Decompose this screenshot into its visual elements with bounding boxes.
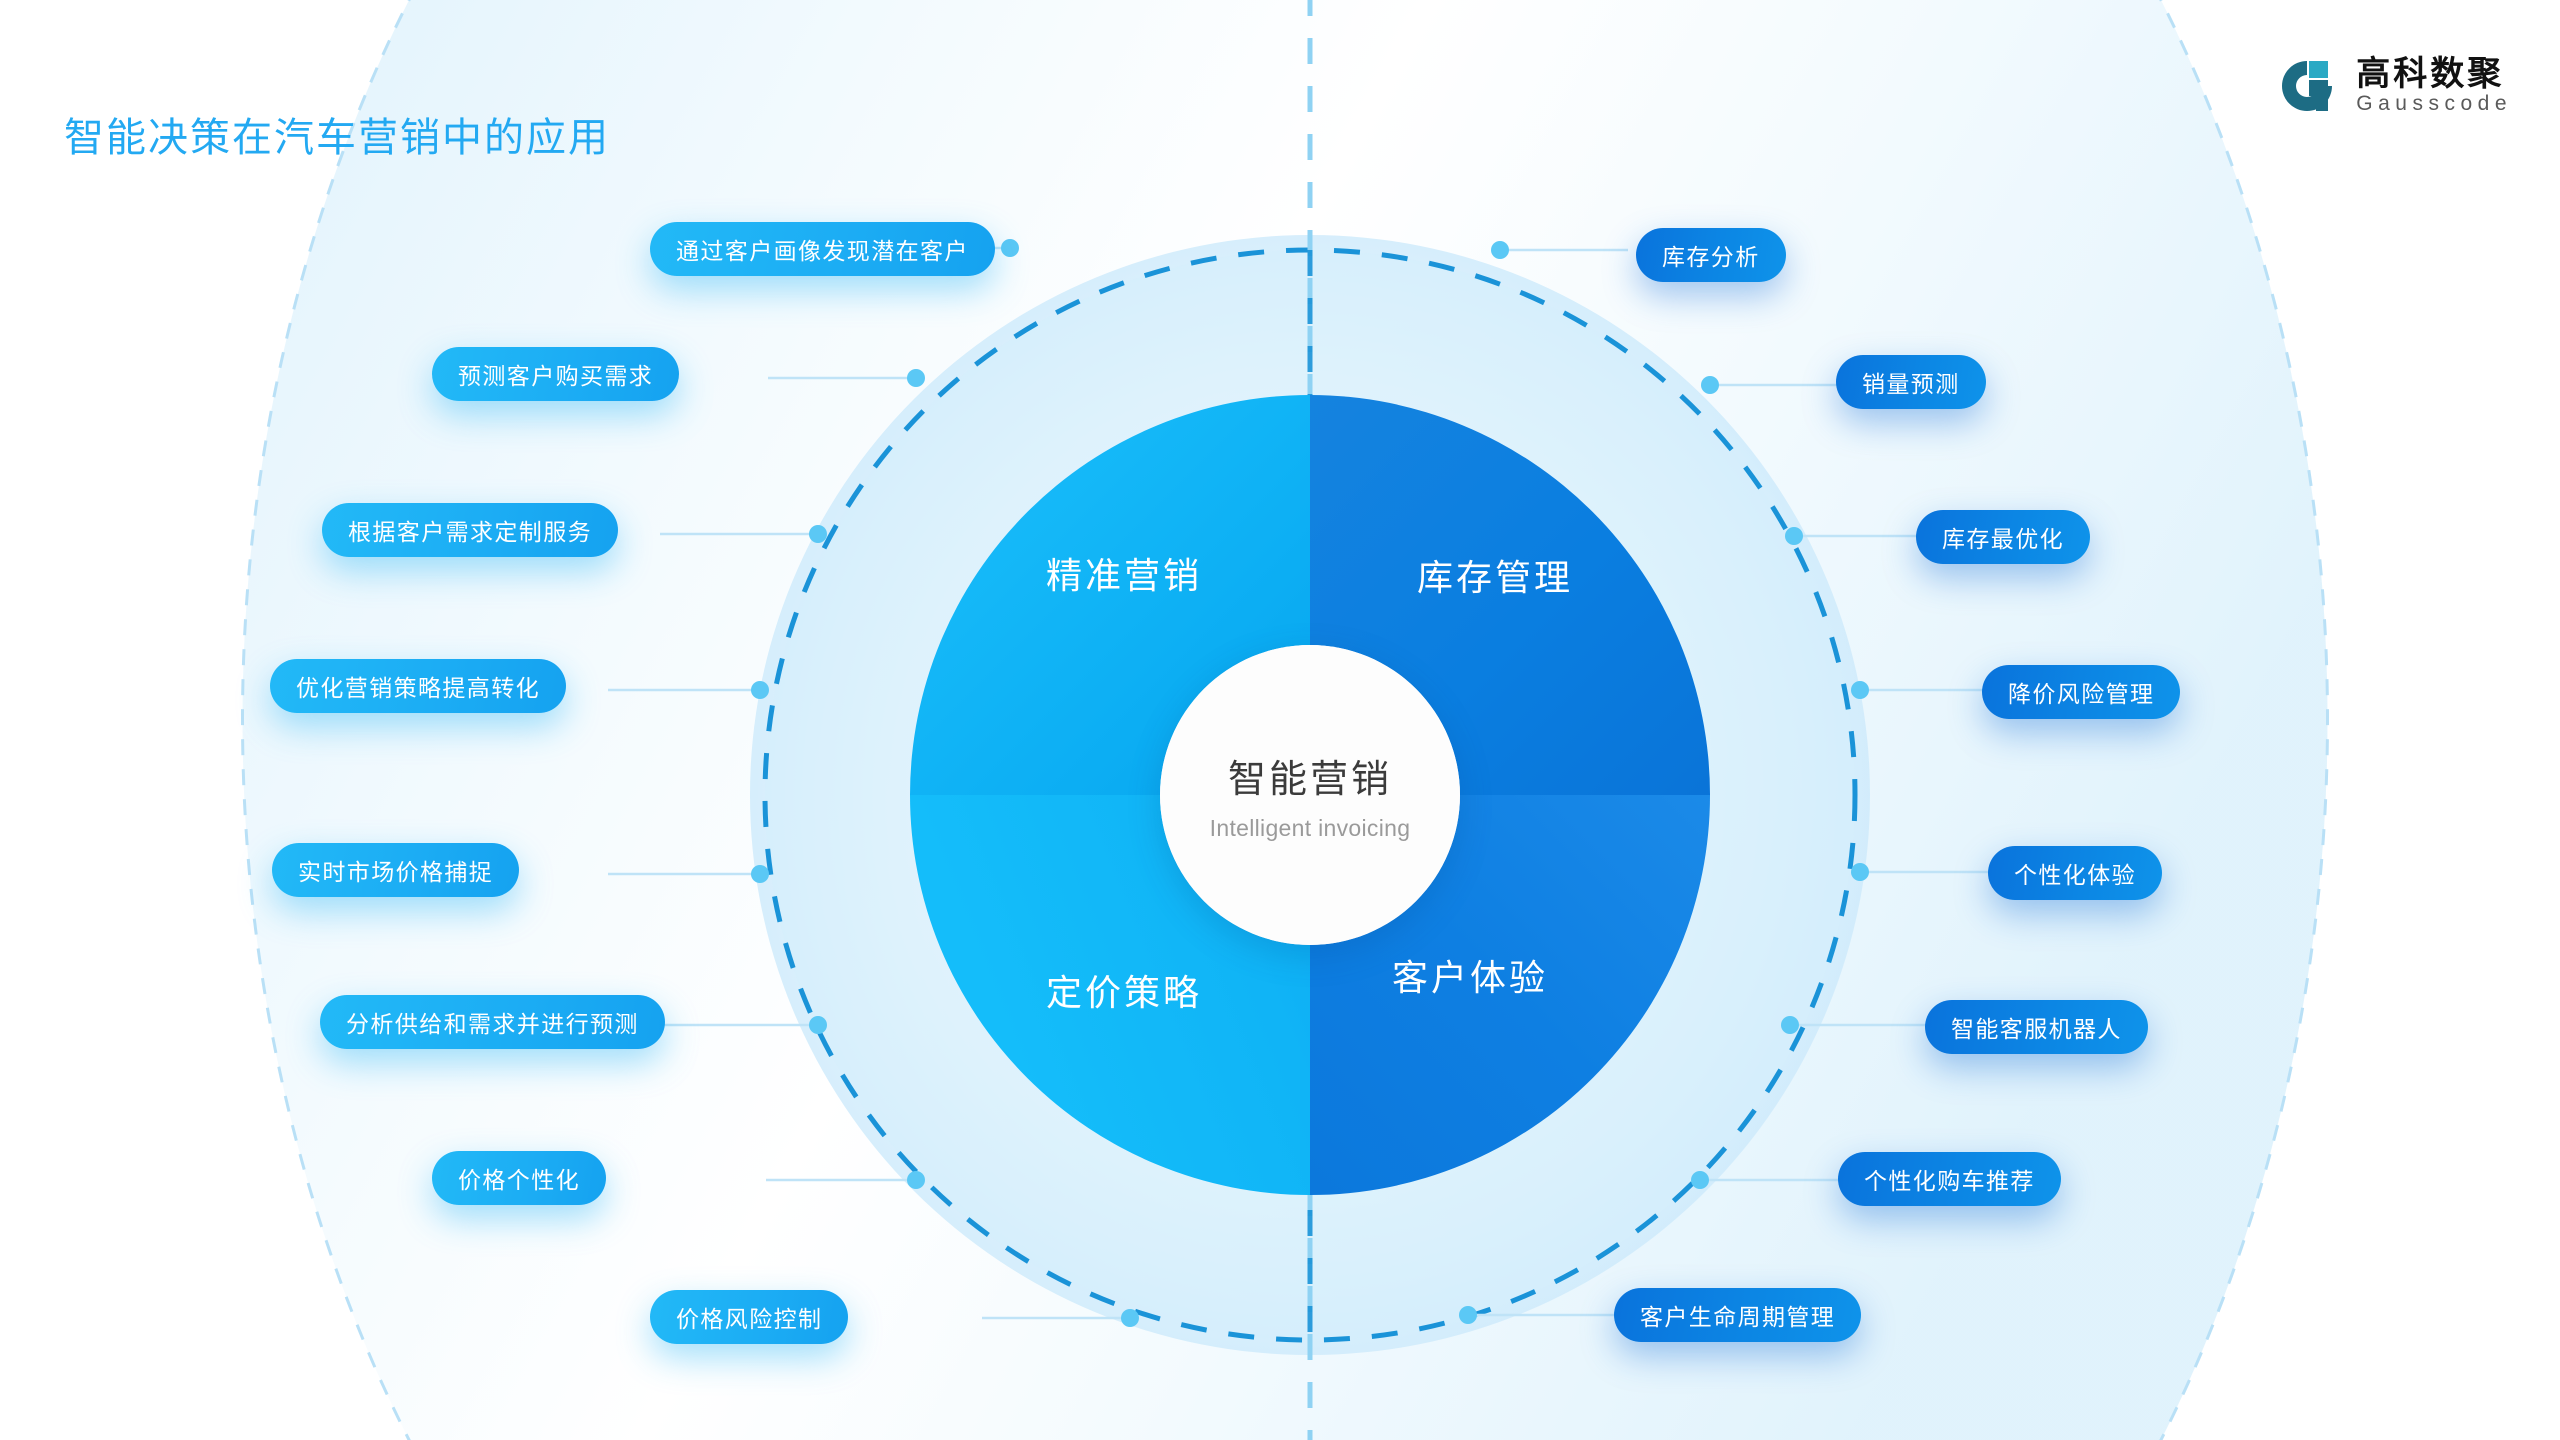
pill-label: 根据客户需求定制服务	[348, 513, 592, 547]
list-item[interactable]: 库存分析	[1636, 228, 1786, 282]
pill-label: 优化营销策略提高转化	[296, 669, 540, 703]
pill-label: 个性化购车推荐	[1864, 1162, 2035, 1196]
hub-subtitle: Intelligent invoicing	[1210, 815, 1411, 842]
pill-label: 库存最优化	[1942, 520, 2064, 554]
list-item[interactable]: 客户生命周期管理	[1614, 1288, 1861, 1342]
list-item[interactable]: 价格风险控制	[650, 1290, 848, 1344]
list-item[interactable]: 通过客户画像发现潜在客户	[650, 222, 995, 276]
list-item[interactable]: 分析供给和需求并进行预测	[320, 995, 665, 1049]
list-item[interactable]: 库存最优化	[1916, 510, 2090, 564]
pill-label: 个性化体验	[2014, 856, 2136, 890]
center-hub: 智能营销 Intelligent invoicing	[1160, 645, 1460, 945]
list-item[interactable]: 个性化购车推荐	[1838, 1152, 2061, 1206]
pill-label: 分析供给和需求并进行预测	[346, 1005, 639, 1039]
hub-title: 智能营销	[1228, 748, 1392, 803]
pill-label: 智能客服机器人	[1951, 1010, 2122, 1044]
brand-logo: 高科数聚 Gausscode	[2276, 55, 2512, 117]
pill-label: 价格个性化	[458, 1161, 580, 1195]
infographic-canvas: 智能决策在汽车营销中的应用 高科数聚 Gausscode 精准营销 库存管理 定…	[0, 0, 2560, 1440]
pill-label: 实时市场价格捕捉	[298, 853, 493, 887]
quadrant-label-customer-experience: 客户体验	[1392, 949, 1548, 1001]
pill-label: 通过客户画像发现潜在客户	[676, 232, 969, 266]
pill-label: 客户生命周期管理	[1640, 1298, 1835, 1332]
quadrant-label-precision-marketing: 精准营销	[1046, 547, 1202, 599]
list-item[interactable]: 预测客户购买需求	[432, 347, 679, 401]
list-item[interactable]: 根据客户需求定制服务	[322, 503, 618, 557]
list-item[interactable]: 智能客服机器人	[1925, 1000, 2148, 1054]
brand-name-cn: 高科数聚	[2356, 56, 2512, 93]
quadrant-label-pricing-strategy: 定价策略	[1046, 964, 1202, 1016]
pill-label: 预测客户购买需求	[458, 357, 653, 391]
list-item[interactable]: 实时市场价格捕捉	[272, 843, 519, 897]
page-title: 智能决策在汽车营销中的应用	[64, 105, 610, 163]
list-item[interactable]: 个性化体验	[1988, 846, 2162, 900]
list-item[interactable]: 降价风险管理	[1982, 665, 2180, 719]
quadrant-label-inventory-management: 库存管理	[1417, 549, 1573, 601]
list-item[interactable]: 优化营销策略提高转化	[270, 659, 566, 713]
list-item[interactable]: 销量预测	[1836, 355, 1986, 409]
brand-name-en: Gausscode	[2356, 92, 2512, 116]
pill-label: 库存分析	[1662, 238, 1760, 272]
brand-text: 高科数聚 Gausscode	[2356, 56, 2512, 117]
pill-label: 价格风险控制	[676, 1300, 822, 1334]
gausscode-logo-mark-icon	[2276, 55, 2338, 117]
pill-label: 销量预测	[1862, 365, 1960, 399]
pill-label: 降价风险管理	[2008, 675, 2154, 709]
list-item[interactable]: 价格个性化	[432, 1151, 606, 1205]
